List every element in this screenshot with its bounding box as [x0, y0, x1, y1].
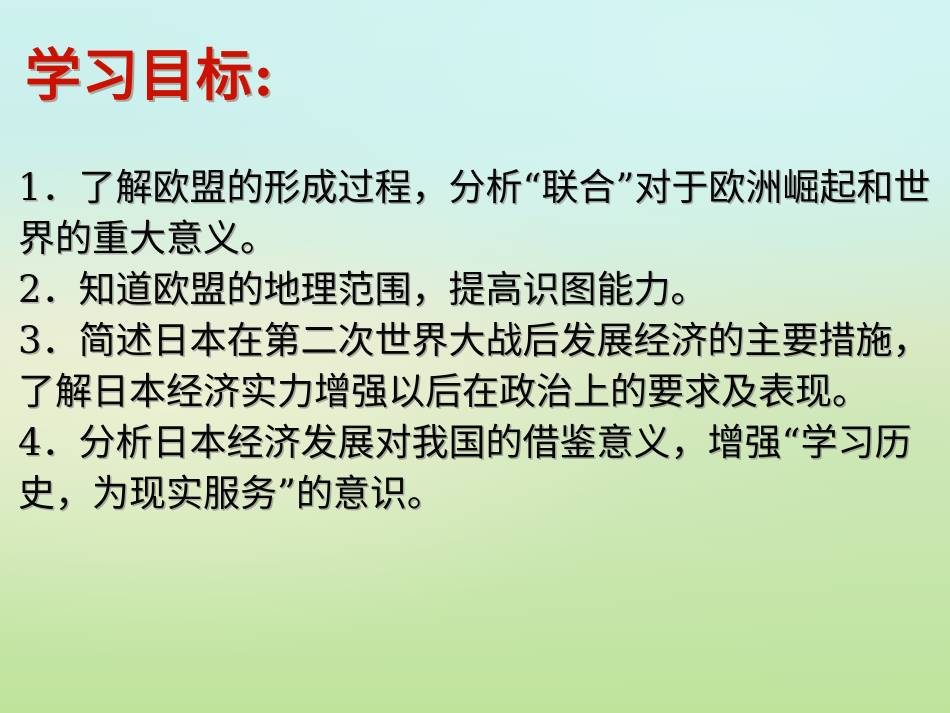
objective-item-3: 3．简述日本在第二次世界大战后发展经济的主要措施，了解日本经济实力增强以后在政治… — [18, 315, 936, 417]
slide-title: 学习目标: — [25, 44, 275, 108]
objective-item-1: 1．了解欧盟的形成过程，分析“联合”对于欧洲崛起和世界的重大意义。 — [18, 162, 936, 264]
objective-item-2: 2．知道欧盟的地理范围，提高识图能力。 — [18, 264, 936, 315]
learning-objectives-list: 1．了解欧盟的形成过程，分析“联合”对于欧洲崛起和世界的重大意义。 2．知道欧盟… — [18, 162, 936, 519]
objective-item-4: 4．分析日本经济发展对我国的借鉴意义，增强“学习历史，为现实服务”的意识。 — [18, 417, 936, 519]
slide-canvas: 学习目标: 1．了解欧盟的形成过程，分析“联合”对于欧洲崛起和世界的重大意义。 … — [0, 0, 950, 713]
slide-content: 学习目标: 1．了解欧盟的形成过程，分析“联合”对于欧洲崛起和世界的重大意义。 … — [0, 0, 950, 713]
